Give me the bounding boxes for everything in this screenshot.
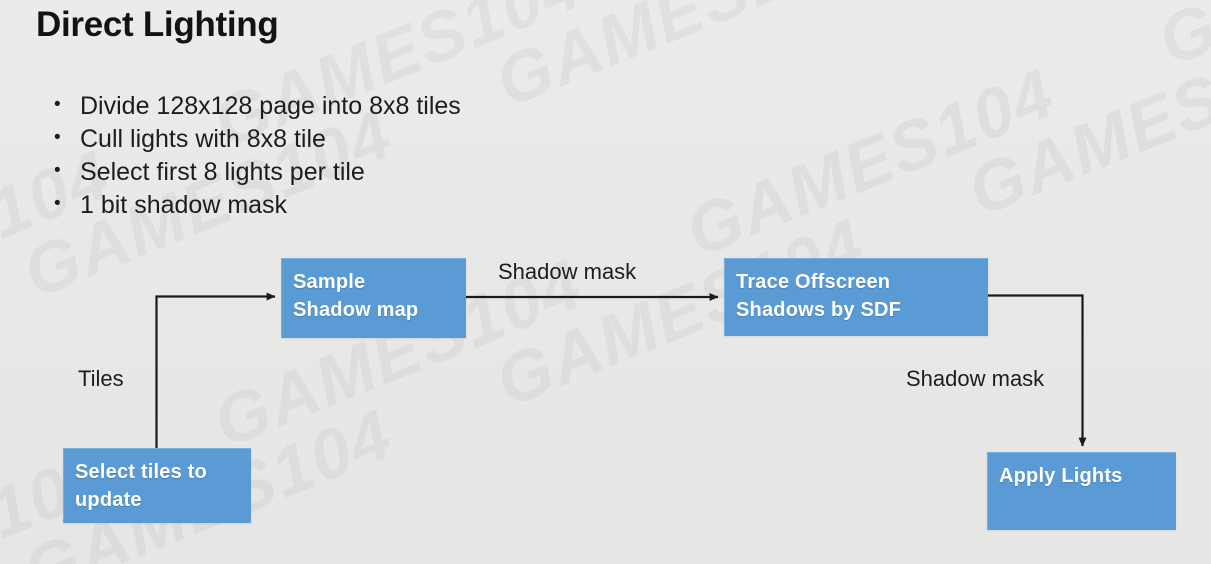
page-title: Direct Lighting [36, 5, 278, 45]
diagram-node-select-tiles[interactable]: Select tiles to update [63, 448, 251, 523]
node-label: Select tiles to update [75, 458, 251, 514]
list-item: Cull lights with 8x8 tile [50, 123, 461, 155]
slide-canvas: GAMES104GAMES104GAMES104GAMES104GAMES104… [0, 0, 1211, 564]
node-label: Sample Shadow map [293, 268, 466, 324]
edge-label-shadow-mask-side: Shadow mask [906, 366, 1044, 392]
bullet-list: Divide 128x128 page into 8x8 tiles Cull … [50, 90, 461, 222]
diagram-node-trace-offscreen-shadows[interactable]: Trace Offscreen Shadows by SDF [724, 258, 988, 336]
list-item: Divide 128x128 page into 8x8 tiles [50, 90, 461, 122]
edge-label-shadow-mask-top: Shadow mask [498, 259, 636, 285]
edge-select-to-sample [157, 297, 276, 449]
list-item: Select first 8 lights per tile [50, 156, 461, 188]
diagram-node-sample-shadow-map[interactable]: Sample Shadow map [281, 258, 466, 338]
list-item: 1 bit shadow mask [50, 189, 461, 221]
node-label: Trace Offscreen Shadows by SDF [736, 268, 988, 324]
edge-label-tiles: Tiles [78, 366, 124, 392]
node-label: Apply Lights [999, 462, 1176, 490]
flow-diagram: Sample Shadow map Trace Offscreen Shadow… [0, 0, 1211, 564]
diagram-node-apply-lights[interactable]: Apply Lights [987, 452, 1176, 530]
